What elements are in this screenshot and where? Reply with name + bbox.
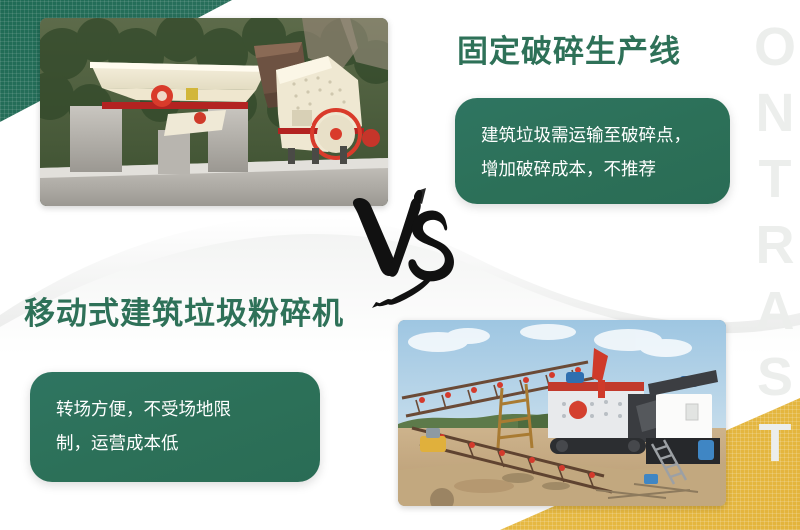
vs-badge-icon	[348, 188, 458, 308]
callout-mobile-line-1: 转场方便，不受场地限	[56, 392, 294, 426]
callout-fixed-line-1: 建筑垃圾需运输至破碎点，	[481, 118, 704, 152]
comparison-poster: CONTRAST	[0, 0, 800, 530]
contrast-watermark: CONTRAST	[728, 0, 800, 430]
callout-mobile-crusher: 转场方便，不受场地限 制，运营成本低	[30, 372, 320, 482]
photo-fixed-crushing-line	[40, 18, 388, 206]
callout-fixed-line-2: 增加破碎成本，不推荐	[481, 152, 704, 186]
callout-fixed-line: 建筑垃圾需运输至破碎点， 增加破碎成本，不推荐	[455, 98, 730, 204]
callout-mobile-line-2: 制，运营成本低	[56, 426, 294, 460]
title-fixed-line: 固定破碎生产线	[457, 26, 681, 71]
photo-mobile-crusher	[398, 320, 726, 506]
title-mobile-crusher: 移动式建筑垃圾粉碎机	[24, 288, 344, 333]
